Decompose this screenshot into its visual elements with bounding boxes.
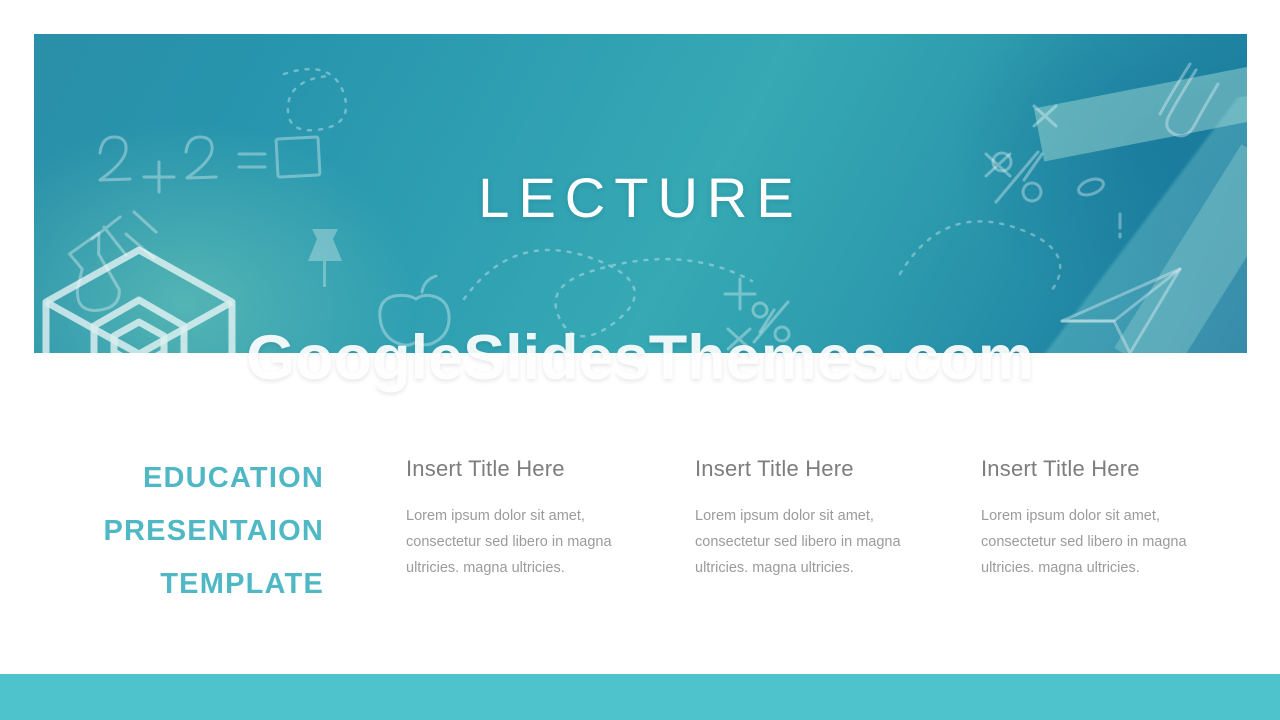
footer-accent-bar: [0, 674, 1280, 720]
headline-line-2: PRESENTAION: [64, 505, 324, 558]
column-body: Lorem ipsum dolor sit amet, consectetur …: [406, 503, 621, 581]
slide-canvas: LECTURE GoogleSlidesThemes.com EDUCATION…: [0, 0, 1280, 720]
content-column-1: Insert Title Here Lorem ipsum dolor sit …: [406, 456, 621, 581]
hero-title: LECTURE: [34, 165, 1247, 230]
content-column-3: Insert Title Here Lorem ipsum dolor sit …: [981, 456, 1196, 581]
headline-line-1: EDUCATION: [64, 452, 324, 505]
content-area: EDUCATION PRESENTAION TEMPLATE Insert Ti…: [0, 430, 1280, 640]
plus-sign-doodle: [725, 279, 755, 309]
content-column-2: Insert Title Here Lorem ipsum dolor sit …: [695, 456, 910, 581]
hero-glow-left: [34, 113, 424, 353]
slash-doodle-2: [760, 310, 774, 332]
column-title: Insert Title Here: [406, 456, 621, 482]
ruler-shape: [1034, 65, 1247, 162]
headline-line-3: TEMPLATE: [64, 558, 324, 611]
apple-doodle: [380, 276, 449, 345]
percent-sign-doodle-2: [753, 302, 789, 342]
column-title: Insert Title Here: [695, 456, 910, 482]
column-body: Lorem ipsum dolor sit amet, consectetur …: [695, 503, 910, 581]
hero-banner: LECTURE: [34, 34, 1247, 353]
column-title: Insert Title Here: [981, 456, 1196, 482]
page-title: EDUCATION PRESENTAION TEMPLATE: [64, 452, 324, 610]
column-body: Lorem ipsum dolor sit amet, consectetur …: [981, 503, 1196, 581]
pushpin-doodle: [308, 229, 342, 287]
